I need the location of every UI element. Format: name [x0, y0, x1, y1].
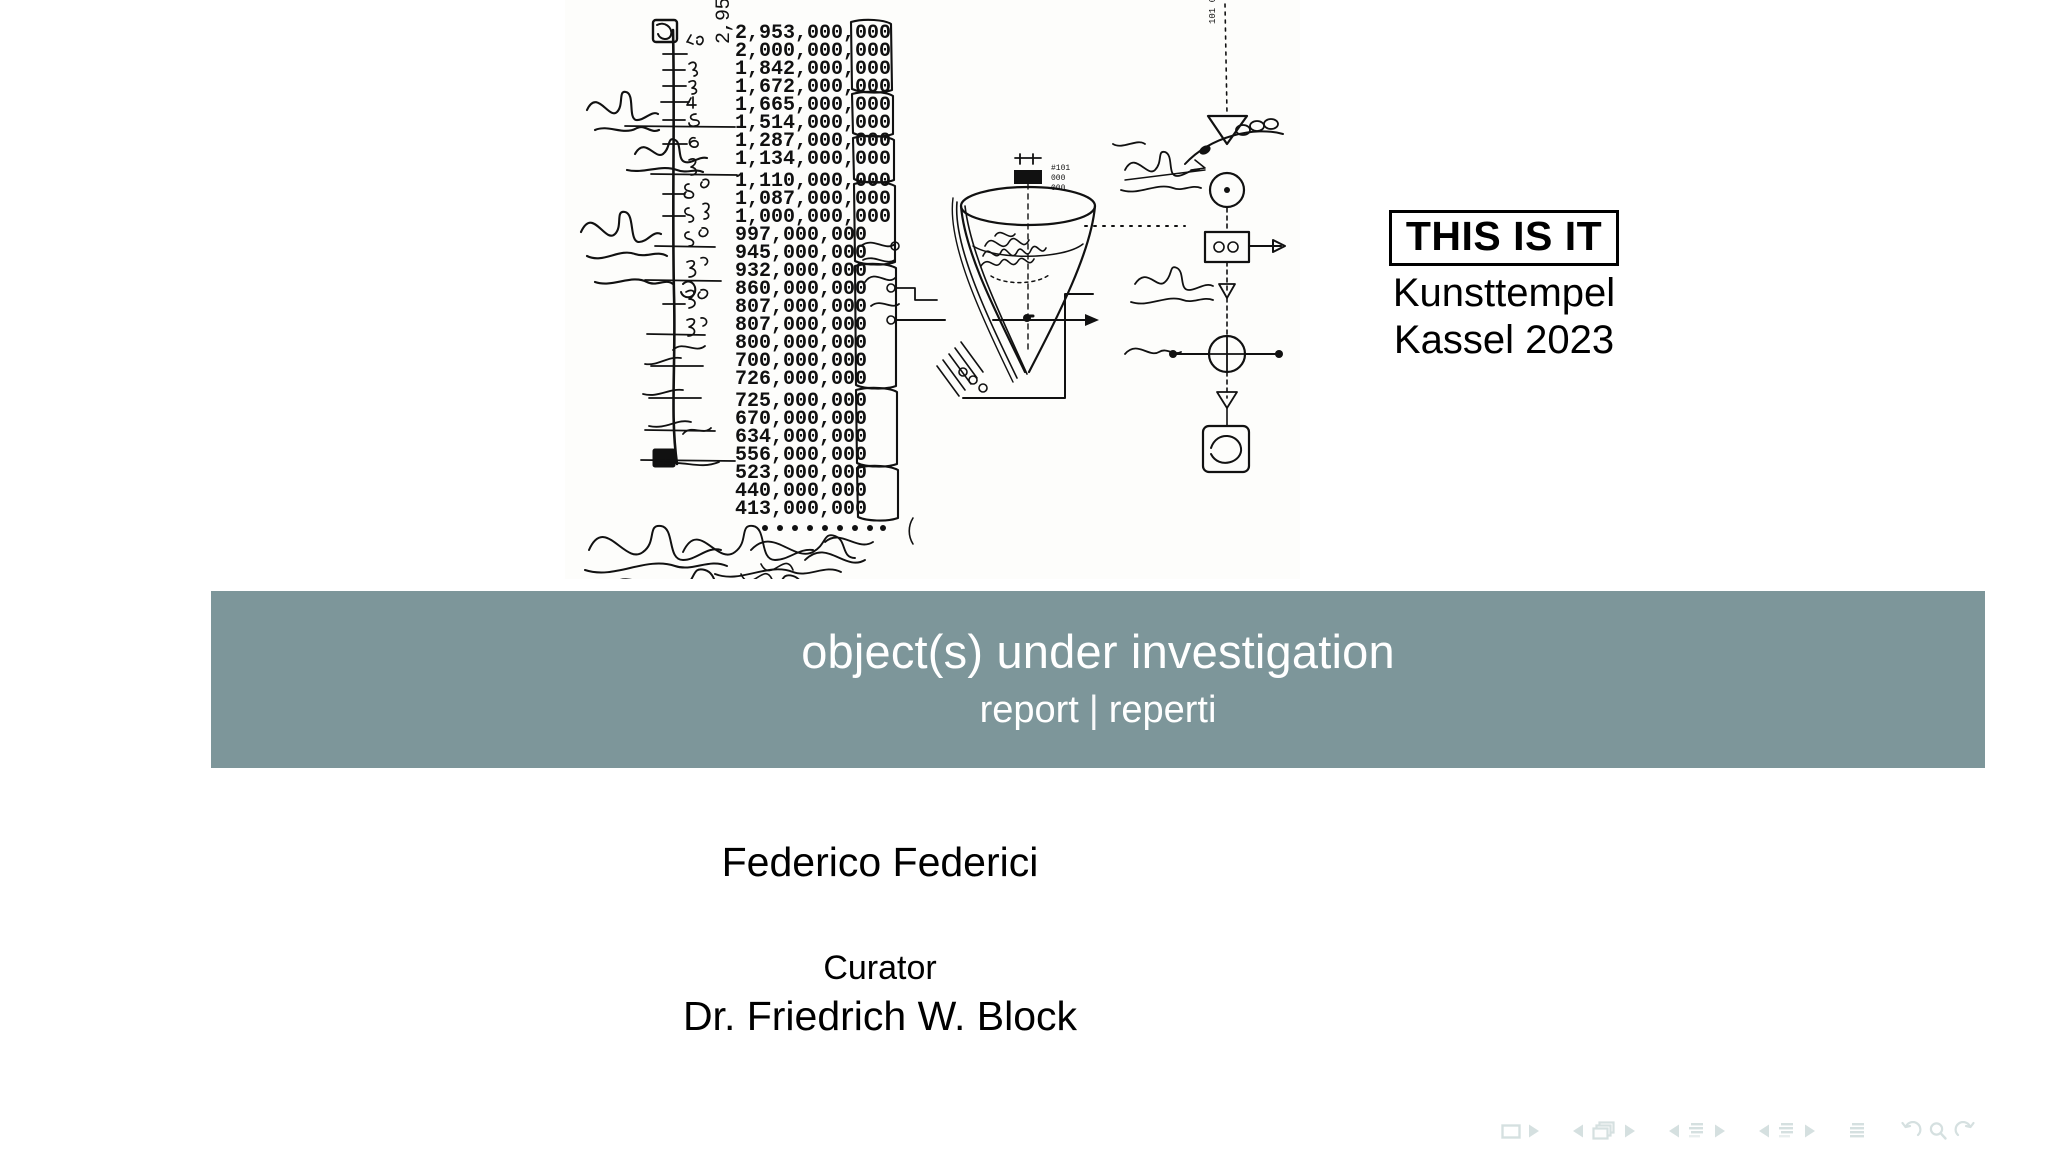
title-banner: object(s) under investigation report | r…: [211, 591, 1985, 768]
subsection-icon[interactable]: [1687, 1121, 1707, 1141]
nav-group-slide[interactable]: [1498, 1123, 1543, 1140]
prev-frame-icon[interactable]: [1572, 1123, 1585, 1139]
subtitle-separator: |: [1089, 690, 1099, 732]
subtitle-left: report: [980, 690, 1079, 732]
svg-text:726,000,000: 726,000,000: [735, 368, 867, 391]
venue-city-year: Kassel 2023: [1376, 317, 1632, 364]
next-slide-icon[interactable]: [1527, 1123, 1540, 1139]
nav-group-frame[interactable]: [1569, 1120, 1639, 1142]
page-title: object(s) under investigation: [801, 627, 1395, 676]
search-icon[interactable]: [1928, 1121, 1948, 1141]
next-frame-icon[interactable]: [1623, 1123, 1636, 1139]
nav-group-subsection[interactable]: [1665, 1121, 1729, 1141]
back-icon[interactable]: [1900, 1121, 1922, 1141]
curator-block: Curator Dr. Friedrich W. Block: [0, 948, 2048, 1040]
slide-icon[interactable]: [1501, 1123, 1521, 1140]
svg-text:000: 000: [1051, 174, 1066, 183]
curator-role: Curator: [0, 948, 1904, 988]
svg-text:413,000,000: 413,000,000: [735, 498, 867, 521]
svg-text:000: 000: [1051, 184, 1066, 193]
subtitle: report | reperti: [980, 690, 1217, 732]
frames-icon[interactable]: [1591, 1120, 1617, 1142]
this-is-it-label: THIS IS IT: [1406, 213, 1602, 259]
venue-block: THIS IS IT Kunsttempel Kassel 2023: [1376, 210, 1632, 364]
svg-text:#101: #101: [1051, 164, 1070, 173]
subtitle-right: reperti: [1109, 690, 1217, 732]
svg-text:1,134,000,000: 1,134,000,000: [735, 148, 891, 171]
prev-section-icon[interactable]: [1758, 1123, 1771, 1139]
beamer-navigation-bar[interactable]: [1498, 1116, 2038, 1146]
author-name: Federico Federici: [722, 840, 1039, 885]
nav-group-history[interactable]: [1897, 1121, 1979, 1141]
this-is-it-badge: THIS IS IT: [1389, 210, 1619, 266]
document-icon[interactable]: [1848, 1121, 1868, 1141]
curator-name: Dr. Friedrich W. Block: [0, 992, 1904, 1040]
svg-text:101 0103 !: 101 0103 !: [1208, 0, 1218, 24]
nav-group-document[interactable]: [1845, 1121, 1871, 1141]
next-subsection-icon[interactable]: [1713, 1123, 1726, 1139]
section-icon[interactable]: [1777, 1121, 1797, 1141]
svg-text:2,953,000,000: 2,953,000,000: [713, 0, 736, 44]
prev-subsection-icon[interactable]: [1668, 1123, 1681, 1139]
forward-icon[interactable]: [1954, 1121, 1976, 1141]
author-block: Federico Federici: [0, 840, 2048, 885]
next-section-icon[interactable]: [1803, 1123, 1816, 1139]
nav-group-section[interactable]: [1755, 1121, 1819, 1141]
asemic-writing-artwork: 2,953,000,000 2,953,000,000 2,000,000,00…: [565, 0, 1300, 579]
venue-name: Kunsttempel: [1376, 270, 1632, 317]
beamer-title-slide: 2,953,000,000 2,953,000,000 2,000,000,00…: [0, 0, 2048, 1152]
